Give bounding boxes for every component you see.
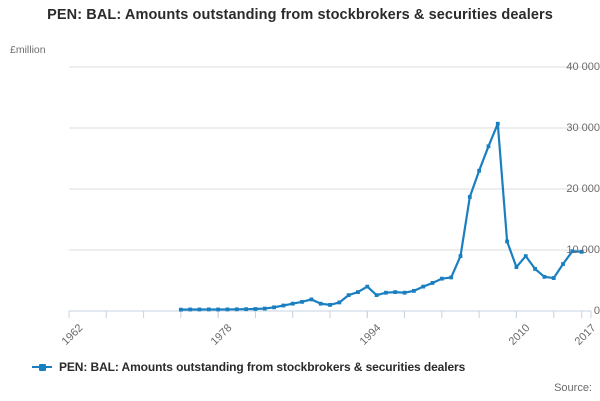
data-point-marker	[207, 308, 211, 312]
data-point-marker	[524, 254, 528, 258]
data-point-marker	[449, 276, 453, 280]
data-point-marker	[254, 307, 258, 311]
data-point-marker	[533, 267, 537, 271]
data-point-marker	[468, 195, 472, 199]
data-point-marker	[272, 305, 276, 309]
data-point-marker	[179, 308, 183, 312]
legend-line-marker-icon	[32, 361, 52, 373]
data-point-marker	[477, 169, 481, 173]
y-tick-label: 40 000	[538, 61, 600, 73]
y-tick-label: 20 000	[538, 183, 600, 195]
y-tick-label: 10 000	[538, 244, 600, 256]
data-point-marker	[216, 308, 220, 312]
data-point-marker	[347, 293, 351, 297]
data-point-marker	[440, 277, 444, 281]
data-point-marker	[459, 254, 463, 258]
y-tick-label: 0	[538, 305, 600, 317]
data-point-marker	[337, 301, 341, 305]
data-point-marker	[505, 240, 509, 244]
data-point-marker	[384, 291, 388, 295]
data-point-marker	[328, 303, 332, 307]
data-point-marker	[403, 291, 407, 295]
chart-container: PEN: BAL: Amounts outstanding from stock…	[0, 0, 600, 400]
y-tick-label: 30 000	[538, 122, 600, 134]
data-point-marker	[281, 304, 285, 308]
legend-series-label: PEN: BAL: Amounts outstanding from stock…	[59, 360, 465, 374]
data-point-marker	[244, 307, 248, 311]
data-point-marker	[561, 262, 565, 266]
data-point-marker	[431, 281, 435, 285]
data-point-marker	[375, 293, 379, 297]
data-point-marker	[235, 307, 239, 311]
data-point-marker	[356, 290, 360, 294]
data-point-marker	[421, 285, 425, 289]
series-line-0	[181, 124, 582, 310]
data-point-marker	[393, 290, 397, 294]
data-point-marker	[487, 144, 491, 148]
data-point-marker	[188, 308, 192, 312]
data-point-marker	[515, 265, 519, 269]
data-point-marker	[263, 307, 267, 311]
data-point-marker	[291, 302, 295, 306]
data-point-marker	[496, 122, 500, 126]
source-label: Source:	[554, 382, 592, 394]
data-point-marker	[552, 276, 556, 280]
data-point-marker	[542, 275, 546, 279]
data-point-marker	[226, 308, 230, 312]
data-point-marker	[412, 289, 416, 293]
data-point-marker	[319, 302, 323, 306]
data-point-marker	[309, 298, 313, 302]
chart-legend[interactable]: PEN: BAL: Amounts outstanding from stock…	[32, 360, 465, 374]
data-point-marker	[300, 300, 304, 304]
data-point-marker	[365, 285, 369, 289]
data-point-marker	[198, 308, 202, 312]
